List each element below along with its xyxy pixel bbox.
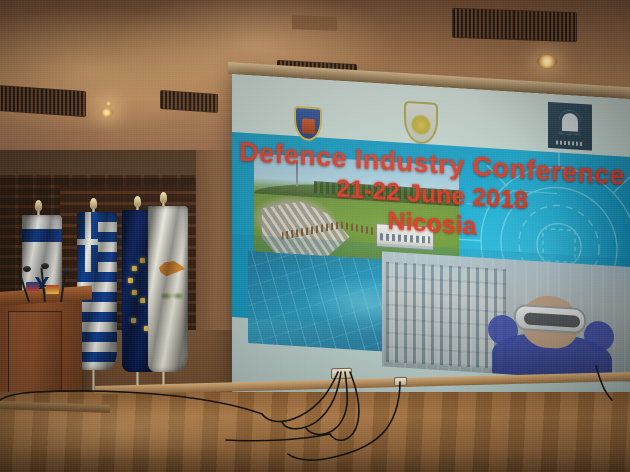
- air-vent-2: [160, 90, 218, 113]
- ceiling-panel: [292, 15, 337, 31]
- mic-flag-badge-2: [46, 285, 59, 294]
- gold-wings-shield-emblem-icon: [404, 101, 438, 145]
- logo-subtext: [556, 140, 584, 146]
- dark-square-arch-logo-icon: [548, 102, 592, 151]
- conference-room-scene: Defence Industry Conference 21-22 June 2…: [0, 0, 630, 472]
- ceiling-downlight-4-icon: [537, 55, 557, 68]
- ceiling-downlight-small-icon: [105, 101, 112, 106]
- blue-shield-emblem-icon: [294, 106, 322, 142]
- air-vent-4: [452, 8, 577, 42]
- white-building: [376, 223, 434, 251]
- microphone-head-2-icon: [41, 263, 49, 269]
- power-cables-on-floor: [0, 330, 630, 472]
- mic-flag-badge-1: [26, 282, 39, 291]
- microphone-head-1-icon: [23, 266, 31, 272]
- antenna-mast: [296, 160, 298, 186]
- microphone-head-3-icon: [63, 268, 71, 274]
- microphone-stem-3: [60, 272, 66, 302]
- microphone-cluster: [22, 268, 100, 304]
- ceiling-downlight-1-icon: [100, 108, 113, 117]
